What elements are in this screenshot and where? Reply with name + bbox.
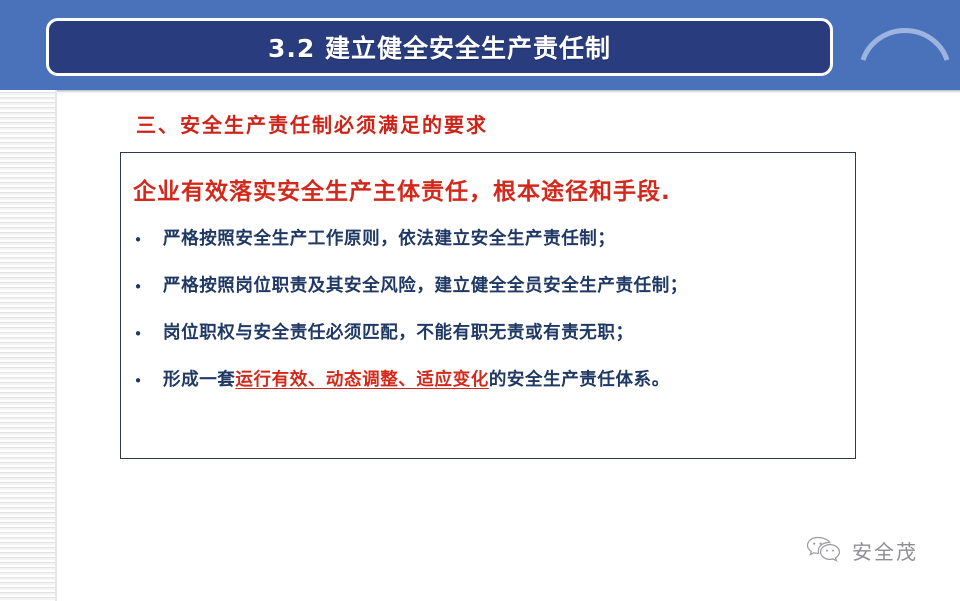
content-heading: 企业有效落实安全生产主体责任，根本途径和手段. [133,172,671,206]
list-item-segment: 严格按照岗位职责及其安全风险，建立健全全员安全生产责任制； [163,276,688,296]
watermark-label: 安全茂 [852,536,918,565]
list-item-text: 岗位职权与安全责任必须匹配，不能有职无责或有责无职； [149,319,634,347]
section-subtitle: 三、安全生产责任制必须满足的要求 [136,109,488,138]
list-item-segment: 运行有效、动态调整、适应变化 [235,370,488,390]
list-item-segment: 岗位职权与安全责任必须匹配，不能有职无责或有责无职； [163,323,634,343]
bullet-dot-icon: • [127,366,149,394]
list-item-segment: 形成一套 [163,370,235,390]
list-item: •形成一套运行有效、动态调整、适应变化的安全生产责任体系。 [127,366,851,413]
page-title: 3.2 建立健全安全生产责任制 [268,29,611,65]
header-band-shadow [0,90,960,93]
slide-title-pill: 3.2 建立健全安全生产责任制 [46,18,833,76]
list-item-segment: 严格按照安全生产工作原则，依法建立安全生产责任制； [163,229,616,249]
wechat-bubbles-icon [806,535,842,565]
list-item-segment: 的安全生产责任体系。 [489,370,670,390]
list-item: •严格按照安全生产工作原则，依法建立安全生产责任制； [127,225,851,272]
bullet-dot-icon: • [127,272,149,300]
list-item-text: 严格按照安全生产工作原则，依法建立安全生产责任制； [149,225,616,253]
bullet-dot-icon: • [127,225,149,253]
list-item: •严格按照岗位职责及其安全风险，建立健全全员安全生产责任制； [127,272,851,319]
list-item: •岗位职权与安全责任必须匹配，不能有职无责或有责无职； [127,319,851,366]
slide-canvas: 3.2 建立健全安全生产责任制 三、安全生产责任制必须满足的要求 企业有效落实安… [0,0,960,601]
content-box: 企业有效落实安全生产主体责任，根本途径和手段. •严格按照安全生产工作原则，依法… [120,152,856,459]
bullet-list: •严格按照安全生产工作原则，依法建立安全生产责任制；•严格按照岗位职责及其安全风… [127,225,851,413]
striped-edge-border [55,90,57,601]
watermark: 安全茂 [806,535,918,565]
bullet-dot-icon: • [127,319,149,347]
striped-edge [0,90,56,601]
list-item-text: 严格按照岗位职责及其安全风险，建立健全全员安全生产责任制； [149,272,688,300]
list-item-text: 形成一套运行有效、动态调整、适应变化的安全生产责任体系。 [149,366,670,394]
